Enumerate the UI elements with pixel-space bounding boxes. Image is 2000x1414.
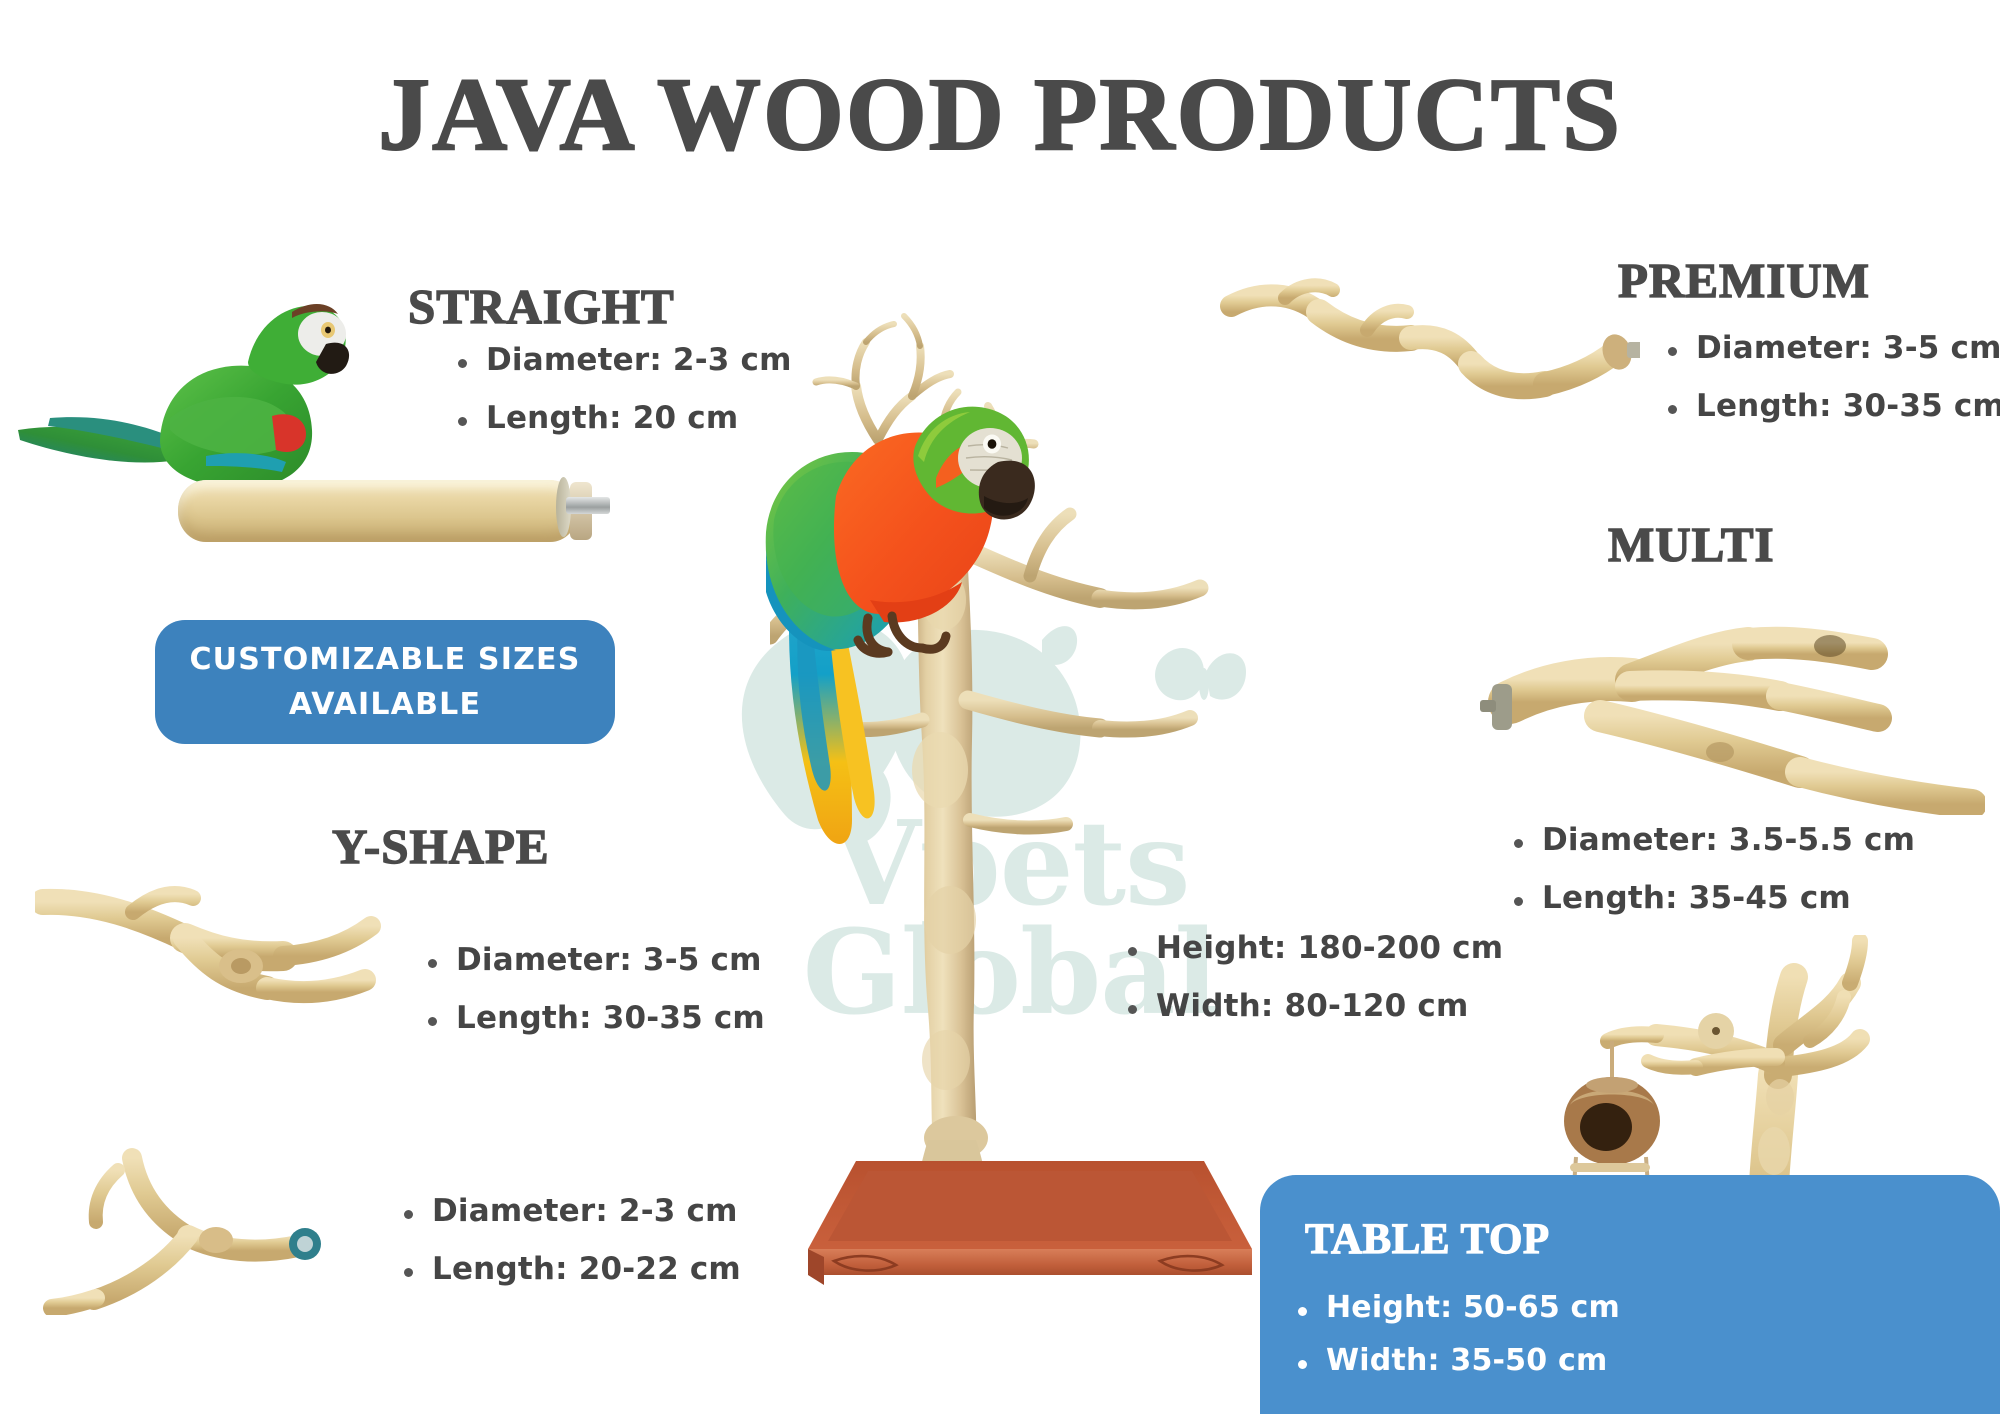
spec-item: Height: 50-65 cm	[1292, 1290, 1620, 1325]
spec-item: Length: 30-35 cm	[422, 1000, 765, 1036]
spec-item: Diameter: 3-5 cm	[1662, 330, 2000, 366]
spec-item: Length: 35-45 cm	[1508, 880, 1915, 916]
section-title-multi: MULTI	[1608, 516, 1775, 573]
page-title: JAVA WOOD PRODUCTS	[0, 55, 2000, 174]
spec-list-premium: Diameter: 3-5 cm Length: 30-35 cm	[1662, 330, 2000, 446]
spec-list-y-shape-small: Diameter: 2-3 cm Length: 20-22 cm	[398, 1193, 741, 1309]
spec-item: Diameter: 2-3 cm	[452, 342, 792, 378]
badge-line-2: AVAILABLE	[289, 687, 481, 722]
harlequin-macaw-image	[740, 400, 1040, 860]
spec-item: Length: 20-22 cm	[398, 1251, 741, 1287]
table-top-panel: TABLE TOP Height: 50-65 cm Width: 35-50 …	[1260, 1175, 2000, 1414]
stand-base-tray-image	[800, 1145, 1250, 1285]
spec-item: Diameter: 3.5-5.5 cm	[1508, 822, 1915, 858]
spec-item: Diameter: 2-3 cm	[398, 1193, 741, 1229]
spec-list-y-shape-large: Diameter: 3-5 cm Length: 30-35 cm	[422, 942, 765, 1058]
y-shape-branch-small-image	[40, 1140, 350, 1310]
straight-perch-image	[178, 480, 578, 542]
spec-item: Length: 30-35 cm	[1662, 388, 2000, 424]
green-macaw-image	[10, 290, 350, 510]
section-title-y-shape: Y-SHAPE	[332, 818, 550, 875]
y-shape-branch-large-image	[35, 880, 395, 1020]
spec-item: Diameter: 3-5 cm	[422, 942, 765, 978]
section-title-table-top: TABLE TOP	[1305, 1215, 1550, 1264]
customizable-sizes-badge[interactable]: CUSTOMIZABLE SIZES AVAILABLE	[155, 620, 615, 744]
spec-list-multi: Diameter: 3.5-5.5 cm Length: 35-45 cm	[1508, 822, 1915, 938]
badge-line-1: CUSTOMIZABLE SIZES	[189, 642, 580, 677]
spec-item: Width: 35-50 cm	[1292, 1343, 1620, 1378]
perch-bolt-screw	[566, 497, 610, 514]
spec-list-table-top: Height: 50-65 cm Width: 35-50 cm	[1292, 1290, 1620, 1396]
multi-branch-image	[1480, 580, 1980, 810]
premium-branch-image	[1215, 278, 1635, 418]
section-title-premium: PREMIUM	[1618, 252, 1870, 309]
section-title-straight: STRAIGHT	[408, 278, 675, 335]
